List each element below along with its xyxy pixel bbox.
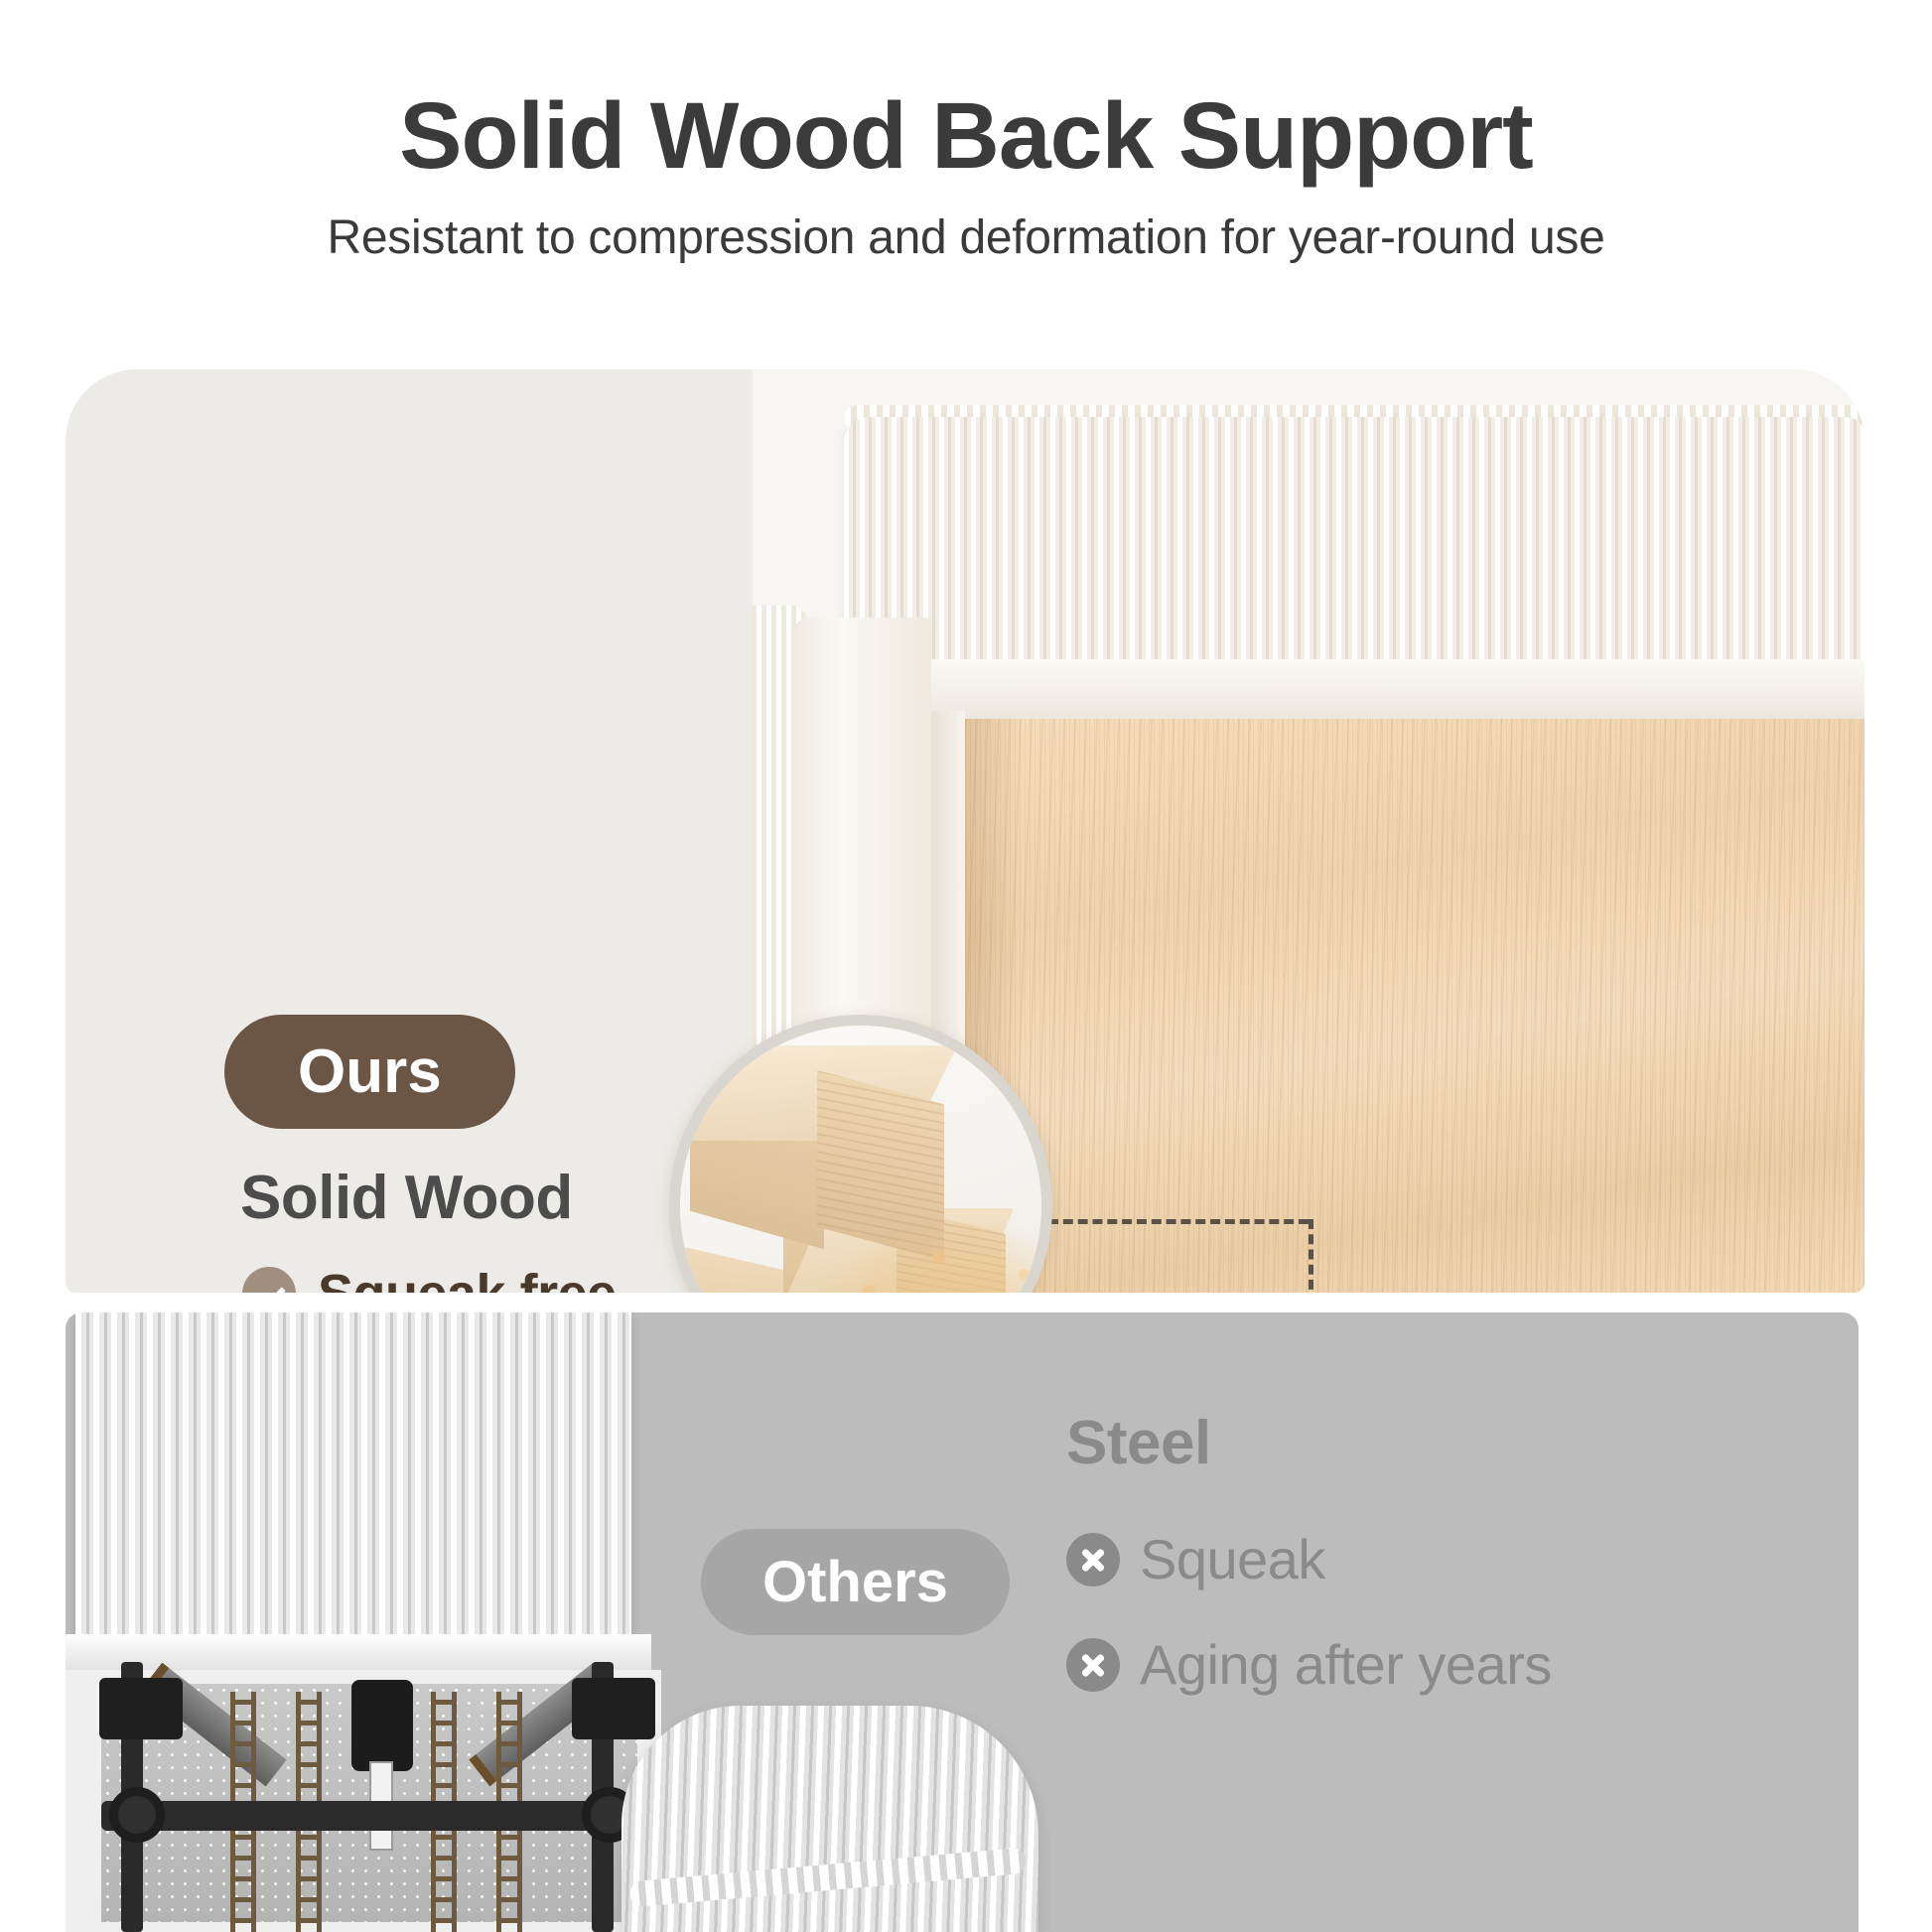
serpentine-spring bbox=[431, 1692, 457, 1811]
x-circle-icon bbox=[1066, 1638, 1120, 1692]
serpentine-spring bbox=[230, 1827, 256, 1932]
serpentine-spring bbox=[296, 1827, 322, 1932]
ours-material-label: Solid Wood bbox=[240, 1163, 691, 1233]
ours-bullet-label: Squeak free bbox=[318, 1263, 617, 1293]
wood-block-inset-photo bbox=[669, 1015, 1052, 1293]
back-cushion-corduroy bbox=[844, 417, 1864, 677]
sawdust-shavings bbox=[823, 1224, 1051, 1293]
others-text-column: Steel Others Squeak Aging after years bbox=[701, 1408, 1833, 1825]
others-back-cushion-corduroy bbox=[75, 1312, 631, 1642]
serpentine-spring bbox=[230, 1692, 256, 1811]
others-material-label: Steel bbox=[1066, 1408, 1211, 1478]
ours-bullet-squeak-free: Squeak free bbox=[242, 1263, 691, 1293]
others-bullet-label: Squeak bbox=[1140, 1527, 1325, 1591]
others-comparison-panel: Steel Others Squeak Aging after years bbox=[66, 1312, 1859, 1932]
frame-hinge-left bbox=[99, 1678, 183, 1739]
frame-hinge-right bbox=[572, 1678, 655, 1739]
others-bullet-label: Aging after years bbox=[1140, 1632, 1552, 1697]
serpentine-spring bbox=[496, 1692, 522, 1811]
steel-frame-crossbar bbox=[101, 1801, 649, 1831]
serpentine-spring bbox=[431, 1827, 457, 1932]
mechanism-actuator bbox=[351, 1680, 413, 1771]
others-bullet-squeak: Squeak bbox=[1066, 1527, 1325, 1591]
ours-text-column: Ours Solid Wood Squeak free Durable bbox=[224, 1015, 691, 1293]
annotation-line-vertical bbox=[1309, 1219, 1313, 1293]
header: Solid Wood Back Support Resistant to com… bbox=[0, 0, 1932, 298]
page-subtitle: Resistant to compression and deformation… bbox=[328, 210, 1605, 265]
ours-comparison-panel: Ours Solid Wood Squeak free Durable bbox=[66, 369, 1864, 1293]
others-badge: Others bbox=[701, 1529, 1010, 1635]
serpentine-spring bbox=[496, 1827, 522, 1932]
ours-badge: Ours bbox=[224, 1015, 515, 1129]
others-bullet-aging: Aging after years bbox=[1066, 1632, 1552, 1697]
solid-wood-back-panel bbox=[965, 719, 1864, 1293]
check-circle-icon bbox=[242, 1267, 296, 1293]
page-title: Solid Wood Back Support bbox=[399, 87, 1533, 187]
annotation-line-horizontal bbox=[1048, 1219, 1309, 1224]
serpentine-spring bbox=[296, 1692, 322, 1811]
frame-pivot-left bbox=[109, 1787, 165, 1843]
x-circle-icon bbox=[1066, 1533, 1120, 1587]
